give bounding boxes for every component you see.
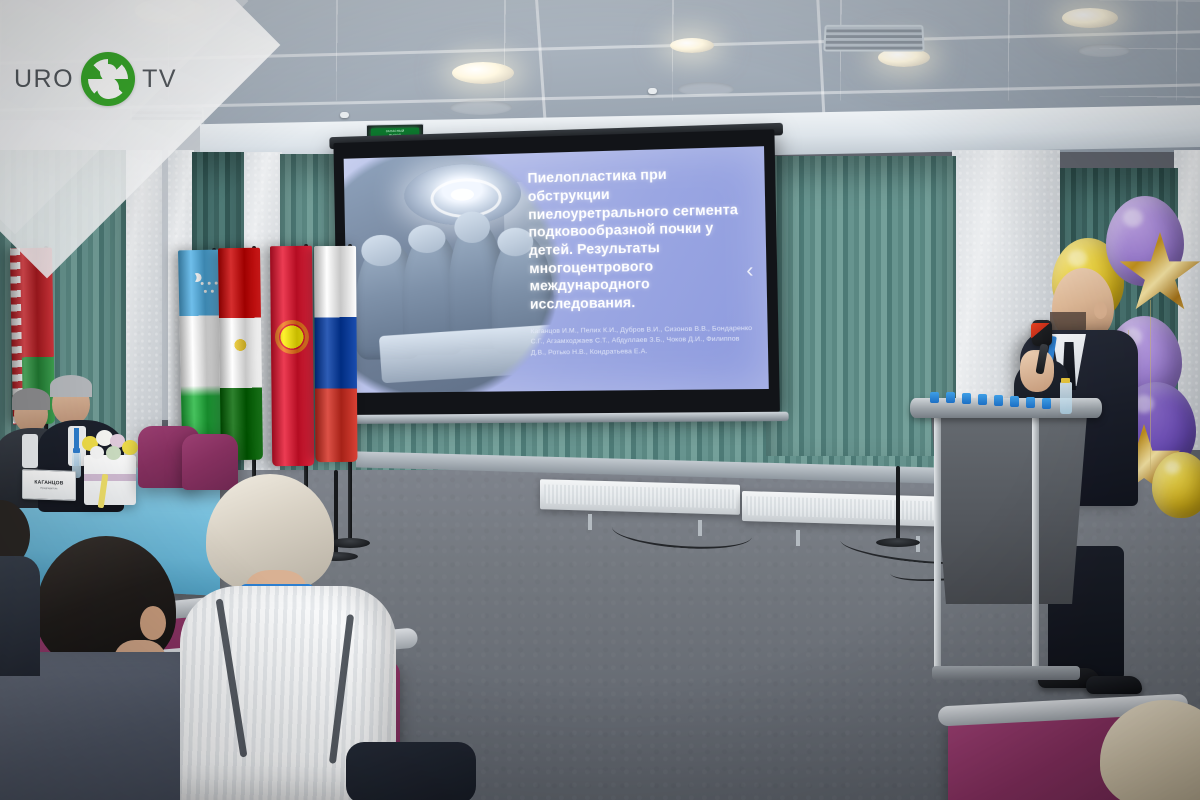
ceiling-speaker xyxy=(450,100,512,115)
podium-blue-item xyxy=(994,395,1003,406)
bottle-cap xyxy=(1061,378,1070,383)
podium-blue-item xyxy=(978,394,987,405)
handheld-microphone xyxy=(1032,320,1052,346)
flower-bloom xyxy=(90,446,104,459)
podium-lectern xyxy=(916,398,1094,698)
smoke-detector xyxy=(648,88,657,94)
balloon-yellow xyxy=(1152,452,1200,518)
projection-screen: Пиелопластика при обструкции пиелоуретра… xyxy=(333,129,780,415)
ceiling-speaker xyxy=(678,82,734,96)
flag-russia xyxy=(314,246,358,462)
flag-kyrgyzstan xyxy=(270,246,314,466)
slide-title: Пиелопластика при обструкции пиелоуретра… xyxy=(527,164,752,314)
podium-column xyxy=(1032,412,1039,668)
ceiling-speaker xyxy=(1078,44,1130,57)
podium-blue-item xyxy=(962,393,971,404)
podium-blue-item xyxy=(1042,398,1051,409)
screen-frame: Пиелопластика при обструкции пиелоуретра… xyxy=(333,129,780,415)
ceiling-downlight xyxy=(670,38,714,53)
flag-tajikistan xyxy=(218,248,263,461)
ceiling-downlight xyxy=(452,62,514,84)
microphone-stand-base xyxy=(876,538,920,547)
smoke-detector xyxy=(340,112,349,118)
radiator-leg xyxy=(796,530,800,546)
name-plate-name: КАГАНЦОВ xyxy=(34,479,63,486)
radiator-leg xyxy=(588,514,592,530)
flower-bloom xyxy=(122,440,138,455)
podium-water-bottle xyxy=(1060,382,1072,414)
hair xyxy=(50,375,92,397)
banquet-chair xyxy=(182,434,238,490)
chevron-left-icon[interactable]: ‹ xyxy=(746,261,754,282)
podium-blue-item xyxy=(930,392,939,403)
torso-jacket xyxy=(0,556,40,676)
ceiling-air-vent xyxy=(823,25,924,52)
speaker-shoe xyxy=(1086,676,1142,694)
presentation-slide: Пиелопластика при обструкции пиелоуретра… xyxy=(344,146,769,393)
slide-authors: Каганцов И.М., Пелих К.И., Дубров В.И., … xyxy=(530,324,753,360)
podium-base xyxy=(932,666,1080,680)
hair xyxy=(12,388,50,410)
flag-pole-base xyxy=(330,538,370,548)
name-plate: КАГАНЦОВ Председатель xyxy=(22,469,76,501)
mic-flag-cube xyxy=(1031,323,1052,340)
podium-front-panel xyxy=(926,414,1092,604)
surgeon-cap xyxy=(361,235,401,266)
bottle-cap xyxy=(73,448,80,453)
name-plate-subtitle: Председатель xyxy=(40,487,57,491)
flower-box-ribbon xyxy=(84,474,136,481)
ceiling-downlight xyxy=(1062,8,1118,28)
slide-text-block: Пиелопластика при обструкции пиелоуретра… xyxy=(527,164,753,360)
wall-radiator xyxy=(540,479,740,515)
podium-blue-item xyxy=(1026,397,1035,408)
speaker-ear xyxy=(1094,302,1107,319)
balloon-string xyxy=(1150,300,1151,470)
podium-blue-item xyxy=(1010,396,1019,407)
podium-blue-item xyxy=(946,392,955,403)
microphone-stand-pole xyxy=(896,466,900,544)
flower-bloom xyxy=(106,446,121,460)
conference-hall-photo: ЗАПАСНЫЙ ВЫХОД xyxy=(0,0,1200,800)
podium-column xyxy=(934,412,941,668)
surgeon-cap xyxy=(454,211,490,243)
trousers xyxy=(346,742,476,800)
ear xyxy=(140,606,166,640)
